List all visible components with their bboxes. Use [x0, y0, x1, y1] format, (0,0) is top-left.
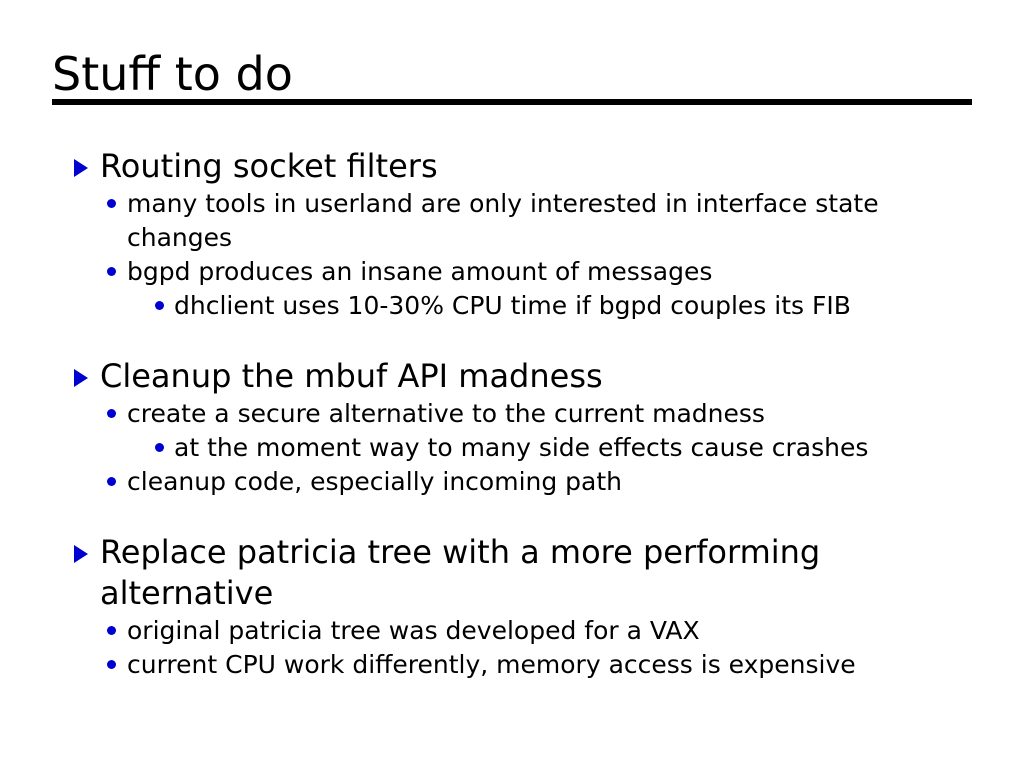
dot-bullet-icon [155, 443, 164, 452]
dot-bullet-icon [107, 267, 116, 276]
outline-item-label: many tools in userland are only interest… [127, 187, 982, 255]
outline-item-level2: original patricia tree was developed for… [52, 614, 982, 648]
outline-group: Routing socket filters many tools in use… [52, 146, 982, 323]
outline-item-level2: current CPU work differently, memory acc… [52, 648, 982, 682]
outline-item-label: create a secure alternative to the curre… [127, 397, 982, 431]
outline-item-label: bgpd produces an insane amount of messag… [127, 255, 982, 289]
slide-body: Routing socket filters many tools in use… [52, 146, 982, 682]
outline-item-level3: at the moment way to many side effects c… [52, 431, 982, 465]
outline-item-label: original patricia tree was developed for… [127, 614, 982, 648]
dot-bullet-icon [107, 660, 116, 669]
dot-bullet-icon [107, 477, 116, 486]
triangle-bullet-icon [74, 545, 88, 563]
outline-item-level1: Replace patricia tree with a more perfor… [52, 532, 982, 614]
outline-list: Routing socket filters many tools in use… [52, 146, 982, 682]
dot-bullet-icon [107, 199, 116, 208]
outline-item-level3: dhclient uses 10-30% CPU time if bgpd co… [52, 289, 982, 323]
dot-bullet-icon [107, 409, 116, 418]
dot-bullet-icon [155, 301, 164, 310]
outline-item-label: at the moment way to many side effects c… [174, 431, 982, 465]
outline-item-label: Cleanup the mbuf API madness [100, 356, 982, 397]
outline-sublist: many tools in userland are only interest… [52, 187, 982, 323]
triangle-bullet-icon [74, 369, 88, 387]
dot-bullet-icon [107, 626, 116, 635]
triangle-bullet-icon [74, 159, 88, 177]
slide-title-block: Stuff to do [52, 48, 972, 100]
outline-item-label: Routing socket filters [100, 146, 982, 187]
outline-item-label: current CPU work differently, memory acc… [127, 648, 982, 682]
title-divider [52, 99, 972, 105]
outline-item-level2: cleanup code, especially incoming path [52, 465, 982, 499]
outline-item-level1: Cleanup the mbuf API madness [52, 356, 982, 397]
outline-item-level2: many tools in userland are only interest… [52, 187, 982, 255]
outline-sublist: create a secure alternative to the curre… [52, 397, 982, 499]
outline-item-label: cleanup code, especially incoming path [127, 465, 982, 499]
page-title: Stuff to do [52, 48, 972, 100]
outline-group: Replace patricia tree with a more perfor… [52, 532, 982, 682]
outline-item-level2: create a secure alternative to the curre… [52, 397, 982, 431]
outline-item-level1: Routing socket filters [52, 146, 982, 187]
outline-item-label: Replace patricia tree with a more perfor… [100, 532, 982, 614]
presentation-slide: Stuff to do Routing socket filters many … [0, 0, 1024, 768]
outline-sublist: original patricia tree was developed for… [52, 614, 982, 682]
outline-group: Cleanup the mbuf API madness create a se… [52, 356, 982, 499]
outline-item-label: dhclient uses 10-30% CPU time if bgpd co… [174, 289, 982, 323]
outline-item-level2: bgpd produces an insane amount of messag… [52, 255, 982, 289]
